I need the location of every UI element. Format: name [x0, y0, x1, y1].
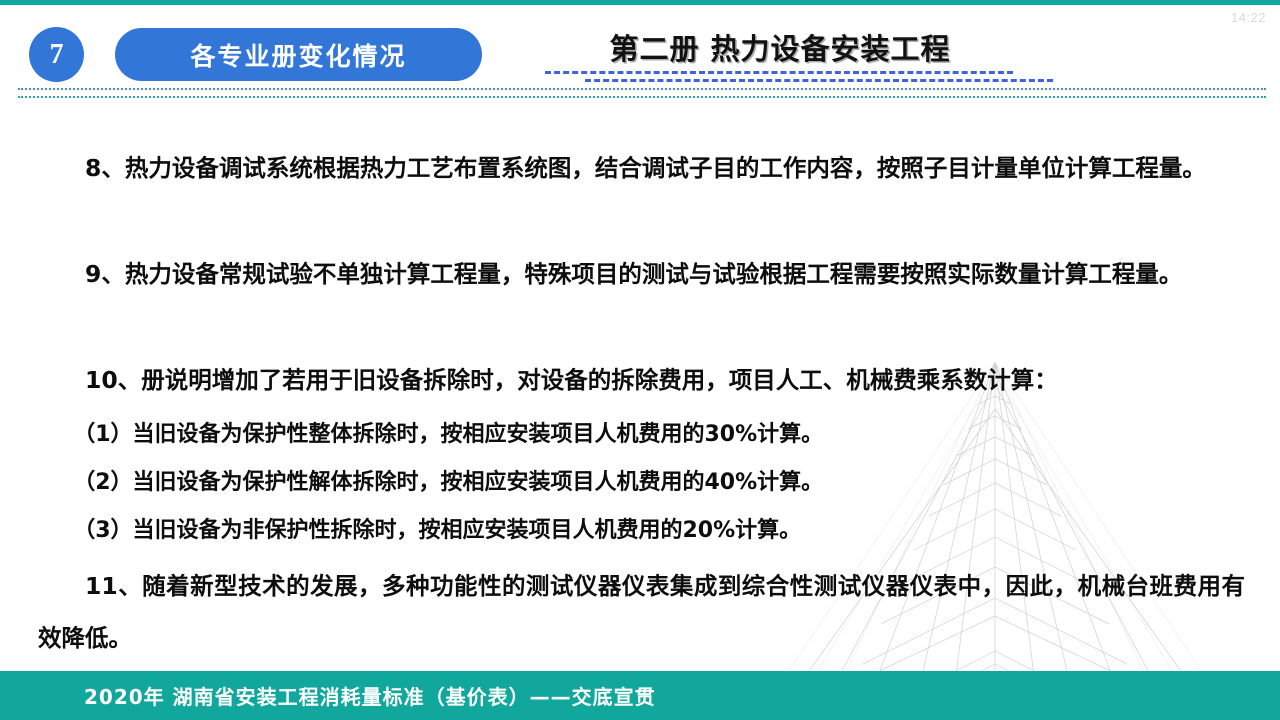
footer-label: 2020年 湖南省安装工程消耗量标准（基价表）——交底宣贯 [84, 681, 656, 710]
body-paragraph-8: 8、热力设备调试系统根据热力工艺布置系统图，结合调试子目的工作内容，按照子目计量… [38, 142, 1245, 194]
slide-canvas: 14:22 7 各专业册变化情况 第二册 热力设备安装工程 [0, 0, 1280, 720]
slide-body: 8、热力设备调试系统根据热力工艺布置系统图，结合调试子目的工作内容，按照子目计量… [0, 118, 1280, 678]
slide-header: 7 各专业册变化情况 第二册 热力设备安装工程 [0, 0, 1280, 100]
section-label-pill: 各专业册变化情况 [115, 28, 482, 81]
body-subitem-3: （3）当旧设备为非保护性拆除时，按相应安装项目人机费用的20%计算。 [38, 514, 1245, 548]
header-divider-teal [18, 96, 1266, 98]
title-underline-dash-top [545, 71, 1013, 74]
body-paragraph-9: 9、热力设备常规试验不单独计算工程量，特殊项目的测试与试验根据工程需要按照实际数… [38, 248, 1245, 300]
body-subitem-2: （2）当旧设备为保护性解体拆除时，按相应安装项目人机费用的40%计算。 [38, 466, 1245, 500]
header-divider-blue [18, 88, 1266, 90]
body-subitem-1: （1）当旧设备为保护性整体拆除时，按相应安装项目人机费用的30%计算。 [38, 418, 1245, 452]
page-title: 第二册 热力设备安装工程 [520, 26, 1040, 68]
slide-footer: 2020年 湖南省安装工程消耗量标准（基价表）——交底宣贯 [0, 671, 1280, 720]
body-paragraph-10: 10、册说明增加了若用于旧设备拆除时，对设备的拆除费用，项目人工、机械费乘系数计… [38, 354, 1245, 406]
body-paragraph-11: 11、随着新型技术的发展，多种功能性的测试仪器仪表集成到综合性测试仪器仪表中，因… [38, 560, 1245, 664]
section-number-badge: 7 [29, 27, 84, 82]
title-underline-dash-bottom [585, 79, 1053, 82]
